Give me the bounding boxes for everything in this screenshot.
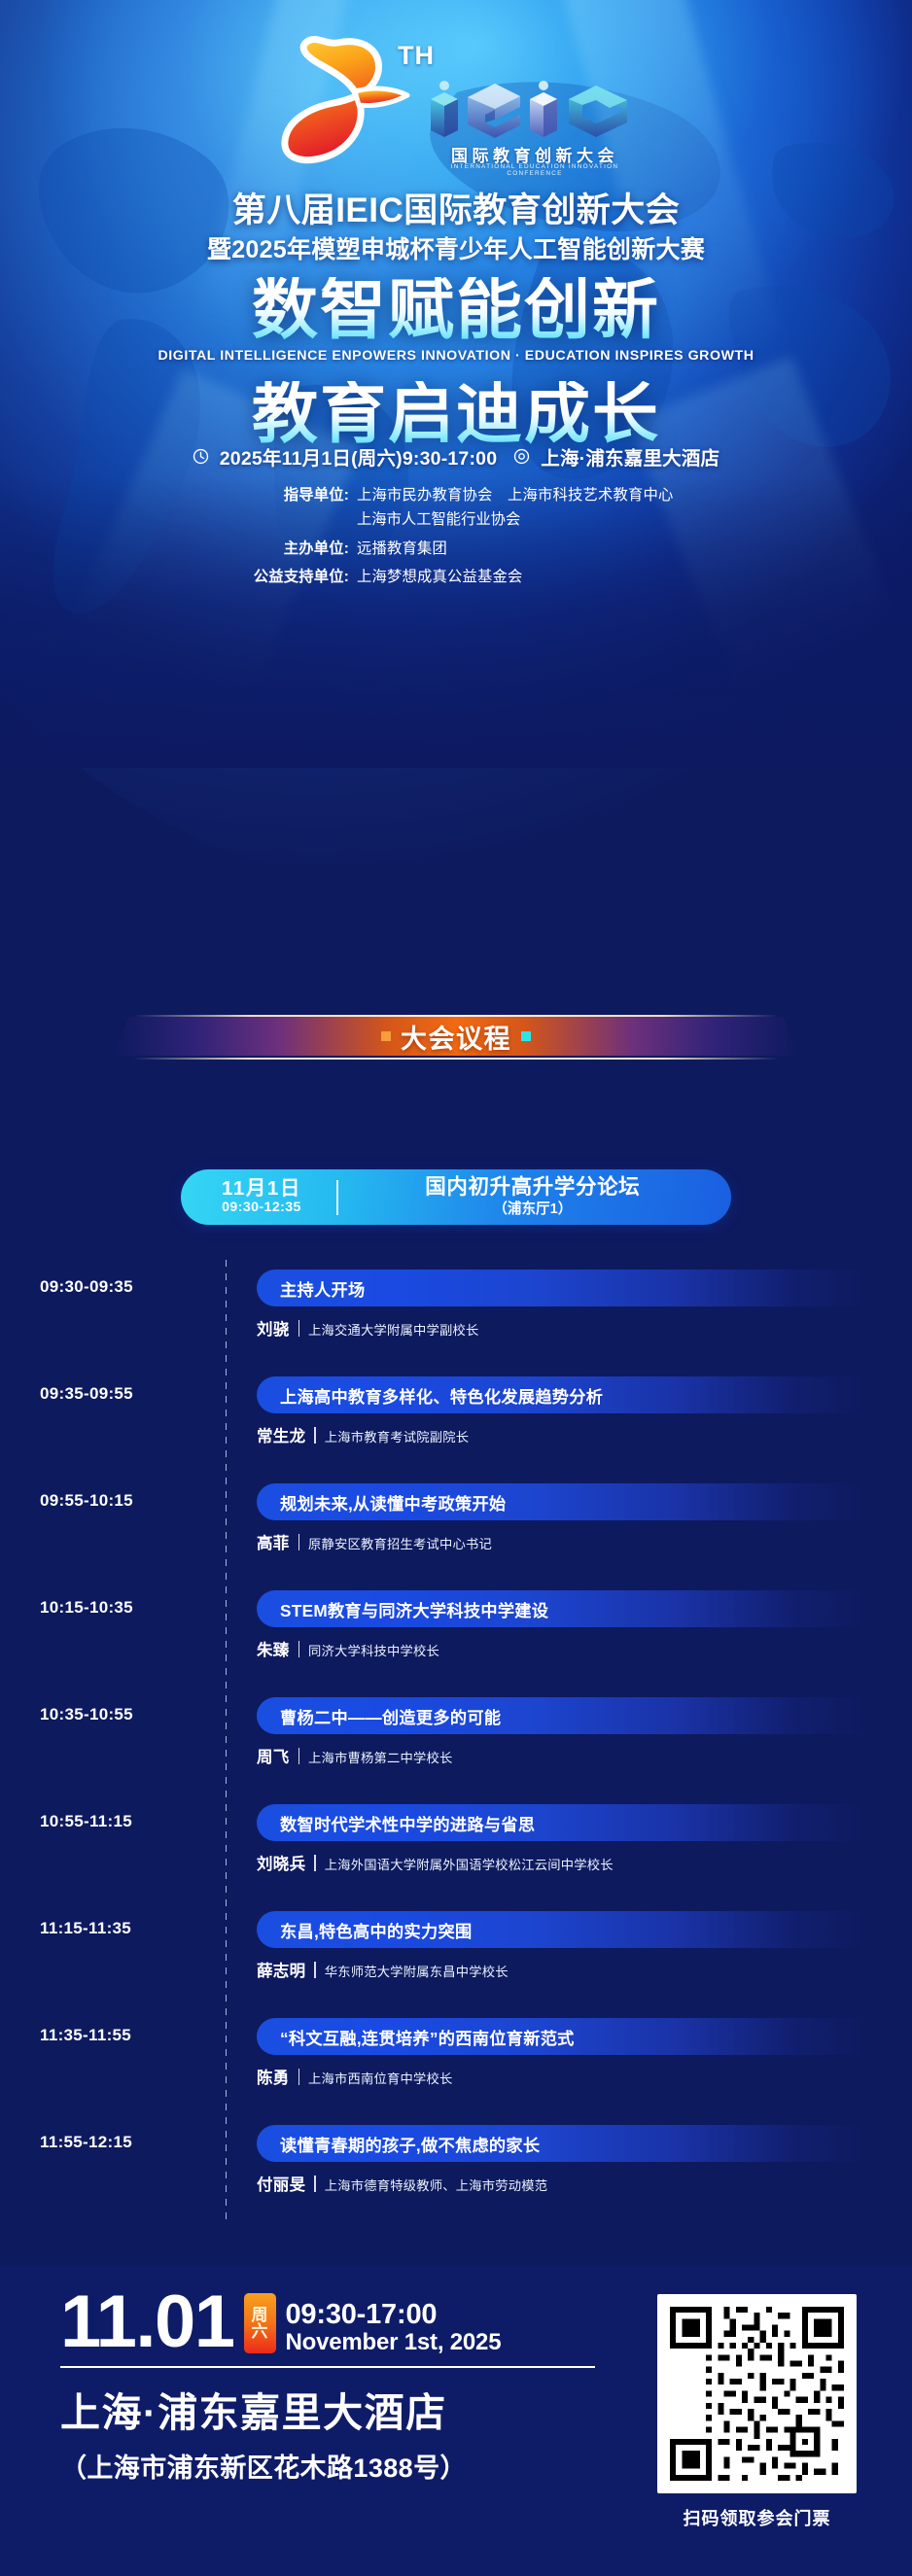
- footer-date-english: November 1st, 2025: [286, 2330, 502, 2355]
- eight-numeral-icon: [269, 31, 415, 167]
- speaker-divider: [314, 2176, 315, 2192]
- qr-block: 扫码领取参会门票: [657, 2294, 857, 2530]
- event-meta-line: 2025年11月1日(周六)9:30-17:00 上海·浦东嘉里大酒店: [0, 442, 912, 470]
- slogan-line-1: 数智赋能创新: [0, 277, 912, 343]
- agenda-speaker-block: 付丽旻 上海市德育特级教师、上海市劳动模范: [257, 2172, 547, 2195]
- footer-time-range: 09:30-17:00: [286, 2300, 502, 2330]
- agenda-topic: 规划未来,从读懂中考政策开始: [280, 1490, 506, 1514]
- poster-footer: 11.01 周 六 09:30-17:00 November 1st, 2025…: [0, 2265, 912, 2576]
- speaker-divider: [298, 1641, 299, 1657]
- agenda-topic-pill: 曹杨二中——创造更多的可能: [257, 1697, 869, 1734]
- agenda-speaker-title: 上海市曹杨第二中学校长: [308, 1748, 452, 1766]
- agenda-speaker-title: 上海市德育特级教师、上海市劳动模范: [325, 2176, 547, 2194]
- agenda-speaker-block: 刘骁 上海交通大学附属中学副校长: [257, 1316, 478, 1340]
- slogan-english: DIGITAL INTELLIGENCE ENPOWERS INNOVATION…: [0, 348, 912, 364]
- forum-datetime-block: 11月1日 09:30-12:35: [181, 1177, 336, 1217]
- agenda-row[interactable]: 10:55-11:15 数智时代学术性中学的进路与省思 刘晓兵 上海外国语大学附…: [0, 1794, 912, 1901]
- weekday-badge-char2: 六: [252, 2323, 268, 2340]
- organizer-label: 公益支持单位:: [184, 566, 349, 590]
- agenda-row[interactable]: 09:30-09:35 主持人开场 刘骁 上海交通大学附属中学副校长: [0, 1260, 912, 1367]
- organizer-value: 远播教育集团: [349, 538, 447, 562]
- agenda-topic: 读懂青春期的孩子,做不焦虑的家长: [280, 2132, 540, 2156]
- agenda-time: 10:55-11:15: [40, 1812, 207, 1831]
- organizer-label: 主办单位:: [184, 538, 349, 562]
- agenda-topic: 东昌,特色高中的实力突围: [280, 1918, 472, 1942]
- agenda-row[interactable]: 10:35-10:55 曹杨二中——创造更多的可能 周飞 上海市曹杨第二中学校长: [0, 1688, 912, 1794]
- agenda-topic-pill: “科文互融,连贯培养”的西南位育新范式: [257, 2018, 869, 2055]
- footer-info-block: 11.01 周 六 09:30-17:00 November 1st, 2025…: [60, 2288, 605, 2485]
- clock-icon: [193, 448, 209, 465]
- organizer-value: 上海梦想成真公益基金会: [349, 566, 522, 590]
- organizer-label: 指导单位:: [184, 484, 349, 508]
- forum-date: 11月1日: [187, 1177, 336, 1201]
- cyan-square-icon: [521, 1031, 531, 1041]
- agenda-speaker-block: 周飞 上海市曹杨第二中学校长: [257, 1744, 452, 1767]
- speaker-divider: [314, 1962, 315, 1978]
- footer-time-block: 09:30-17:00 November 1st, 2025: [286, 2300, 502, 2355]
- agenda-time: 11:55-12:15: [40, 2133, 207, 2152]
- agenda-topic: 曹杨二中——创造更多的可能: [280, 1704, 501, 1728]
- qr-code[interactable]: [657, 2294, 857, 2493]
- agenda-topic: STEM教育与同济大学科技中学建设: [280, 1597, 548, 1621]
- weekday-badge-char1: 周: [252, 2307, 268, 2323]
- agenda-topic-pill: 规划未来,从读懂中考政策开始: [257, 1483, 869, 1520]
- agenda-list: 09:30-09:35 主持人开场 刘骁 上海交通大学附属中学副校长 09:35…: [0, 1260, 912, 2222]
- agenda-topic-pill: 数智时代学术性中学的进路与省思: [257, 1804, 869, 1841]
- agenda-topic-pill: 上海高中教育多样化、特色化发展趋势分析: [257, 1376, 869, 1413]
- organizer-value: 上海市民办教育协会 上海市科技艺术教育中心: [349, 484, 673, 508]
- speaker-divider: [298, 1320, 299, 1337]
- agenda-topic-pill: 读懂青春期的孩子,做不焦虑的家长: [257, 2125, 869, 2162]
- agenda-row[interactable]: 09:35-09:55 上海高中教育多样化、特色化发展趋势分析 常生龙 上海市教…: [0, 1367, 912, 1474]
- organizer-entry: 公益支持单位: 上海梦想成真公益基金会: [184, 566, 728, 590]
- ordinal-suffix: TH: [398, 41, 435, 71]
- agenda-speaker-name: 薛志明: [257, 1958, 305, 1981]
- agenda-topic: 上海高中教育多样化、特色化发展趋势分析: [280, 1383, 603, 1408]
- forum-title-block: 国内初升高升学分论坛 （浦东厅1）: [338, 1175, 731, 1219]
- agenda-speaker-title: 上海市西南位育中学校长: [308, 2069, 452, 2087]
- agenda-row[interactable]: 11:15-11:35 东昌,特色高中的实力突围 薛志明 华东师范大学附属东昌中…: [0, 1901, 912, 2008]
- agenda-section-banner: 大会议程: [114, 1011, 798, 1062]
- agenda-row[interactable]: 11:55-12:15 读懂青春期的孩子,做不焦虑的家长 付丽旻 上海市德育特级…: [0, 2115, 912, 2222]
- banner-bottom-line: [133, 1058, 779, 1060]
- forum-time: 09:30-12:35: [187, 1200, 336, 1217]
- speaker-divider: [314, 1855, 315, 1871]
- speaker-divider: [298, 1534, 299, 1550]
- ieic-isometric-logo-icon: [425, 80, 635, 140]
- agenda-row[interactable]: 09:55-10:15 规划未来,从读懂中考政策开始 高菲 原静安区教育招生考试…: [0, 1474, 912, 1581]
- agenda-speaker-name: 周飞: [257, 1744, 290, 1767]
- conference-poster: TH: [0, 0, 912, 2576]
- agenda-time: 10:15-10:35: [40, 1598, 207, 1618]
- conference-title: 第八届IEIC国际教育创新大会: [0, 183, 912, 232]
- speaker-divider: [314, 1427, 315, 1444]
- agenda-speaker-block: 陈勇 上海市西南位育中学校长: [257, 2065, 452, 2088]
- organizer-value-continued: 上海市人工智能行业协会: [184, 508, 728, 533]
- footer-venue: 上海·浦东嘉里大酒店: [60, 2380, 605, 2438]
- speaker-divider: [298, 2069, 299, 2085]
- agenda-time: 10:35-10:55: [40, 1705, 207, 1724]
- footer-divider: [60, 2366, 595, 2368]
- agenda-speaker-name: 付丽旻: [257, 2172, 305, 2195]
- event-venue: 上海·浦东嘉里大酒店: [541, 442, 719, 470]
- forum-title: 国内初升高升学分论坛: [338, 1175, 727, 1201]
- agenda-row[interactable]: 10:15-10:35 STEM教育与同济大学科技中学建设 朱臻 同济大学科技中…: [0, 1581, 912, 1688]
- footer-address: （上海市浦东新区花木路1388号）: [60, 2447, 605, 2485]
- slogan-line-2: 教育启迪成长: [0, 381, 912, 447]
- qr-caption: 扫码领取参会门票: [657, 2505, 857, 2530]
- forum-hall: （浦东厅1）: [338, 1201, 727, 1219]
- speaker-divider: [298, 1748, 299, 1764]
- agenda-speaker-block: 朱臻 同济大学科技中学校长: [257, 1637, 439, 1660]
- agenda-topic: 数智时代学术性中学的进路与省思: [280, 1811, 535, 1835]
- agenda-banner-title: 大会议程: [401, 1018, 511, 1056]
- forum-header-pill[interactable]: 11月1日 09:30-12:35 国内初升高升学分论坛 （浦东厅1）: [181, 1169, 731, 1225]
- agenda-speaker-title: 上海市教育考试院副院长: [325, 1427, 469, 1445]
- agenda-topic: 主持人开场: [280, 1276, 365, 1301]
- orange-square-icon: [381, 1031, 391, 1041]
- agenda-time: 11:15-11:35: [40, 1919, 207, 1938]
- agenda-time: 09:35-09:55: [40, 1384, 207, 1404]
- footer-date-big: 11.01: [60, 2288, 234, 2356]
- conference-subtitle: 暨2025年模塑申城杯青少年人工智能创新大赛: [0, 230, 912, 265]
- agenda-speaker-name: 常生龙: [257, 1423, 305, 1446]
- agenda-speaker-block: 薛志明 华东师范大学附属东昌中学校长: [257, 1958, 509, 1981]
- agenda-speaker-block: 刘晓兵 上海外国语大学附属外国语学校松江云间中学校长: [257, 1851, 614, 1874]
- agenda-topic-pill: STEM教育与同济大学科技中学建设: [257, 1590, 869, 1627]
- agenda-time: 11:35-11:55: [40, 2026, 207, 2045]
- agenda-speaker-name: 陈勇: [257, 2065, 290, 2088]
- agenda-topic: “科文互融,连贯培养”的西南位育新范式: [280, 2025, 575, 2049]
- conference-logo: TH: [0, 27, 912, 173]
- agenda-speaker-title: 上海交通大学附属中学副校长: [308, 1320, 478, 1339]
- event-datetime: 2025年11月1日(周六)9:30-17:00: [220, 442, 498, 470]
- agenda-speaker-title: 同济大学科技中学校长: [308, 1641, 439, 1659]
- organizer-entry: 主办单位: 远播教育集团: [184, 538, 728, 562]
- organizer-list: 指导单位: 上海市民办教育协会 上海市科技艺术教育中心 上海市人工智能行业协会 …: [0, 484, 912, 590]
- agenda-time: 09:55-10:15: [40, 1491, 207, 1511]
- agenda-speaker-name: 高菲: [257, 1530, 290, 1553]
- agenda-speaker-block: 常生龙 上海市教育考试院副院长: [257, 1423, 469, 1446]
- location-pin-icon: [513, 448, 530, 465]
- qr-code-image: [670, 2307, 844, 2481]
- agenda-speaker-name: 刘晓兵: [257, 1851, 305, 1874]
- agenda-speaker-block: 高菲 原静安区教育招生考试中心书记: [257, 1530, 492, 1553]
- agenda-speaker-name: 刘骁: [257, 1316, 290, 1340]
- agenda-speaker-name: 朱臻: [257, 1637, 290, 1660]
- agenda-row[interactable]: 11:35-11:55 “科文互融,连贯培养”的西南位育新范式 陈勇 上海市西南…: [0, 2008, 912, 2115]
- agenda-topic-pill: 东昌,特色高中的实力突围: [257, 1911, 869, 1948]
- agenda-speaker-title: 上海外国语大学附属外国语学校松江云间中学校长: [325, 1855, 614, 1873]
- organizer-entry: 指导单位: 上海市民办教育协会 上海市科技艺术教育中心 上海市人工智能行业协会: [184, 484, 728, 533]
- agenda-speaker-title: 原静安区教育招生考试中心书记: [308, 1534, 492, 1552]
- agenda-time: 09:30-09:35: [40, 1277, 207, 1297]
- agenda-speaker-title: 华东师范大学附属东昌中学校长: [325, 1962, 509, 1980]
- agenda-topic-pill: 主持人开场: [257, 1270, 869, 1306]
- logo-english-name: INTERNATIONAL EDUCATION INNOVATION CONFE…: [423, 163, 647, 177]
- weekday-badge: 周 六: [244, 2293, 276, 2353]
